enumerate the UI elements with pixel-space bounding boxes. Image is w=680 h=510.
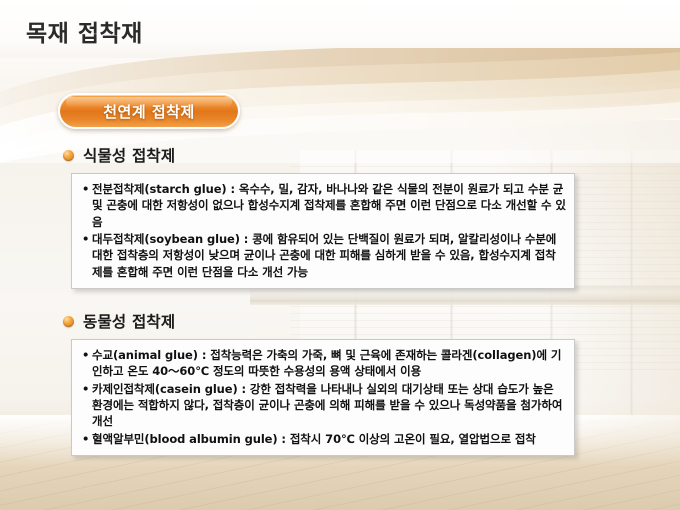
page-title: 목재 접착재 (26, 14, 143, 48)
list-item: • 카제인접착제(casein glue) : 강한 접착력을 나타내나 실외의… (82, 381, 566, 430)
list-item-text: 혈액알부민(blood albumin gule) : 접착시 70℃ 이상의 … (92, 431, 566, 447)
content-box-animal: • 수교(animal glue) : 접착능력은 가축의 가죽, 뼈 및 근육… (71, 339, 575, 456)
content-box-plant: • 전분접착제(starch glue) : 옥수수, 밀, 감자, 바나나와 … (71, 173, 575, 289)
section-pill-label: 천연계 접착제 (103, 101, 195, 122)
list-item: • 대두접착제(soybean glue) : 콩에 함유되어 있는 단백질이 … (82, 231, 566, 280)
section-pill-badge[interactable]: 천연계 접착제 (58, 93, 240, 129)
list-item-text: 카제인접착제(casein glue) : 강한 접착력을 나타내나 실외의 대… (92, 381, 566, 430)
bullet-marker: • (82, 231, 92, 247)
presentation-slide: 목재 접착재 천연계 접착제 식물성 접착제 • 전분접착제(starch gl… (0, 0, 680, 510)
orange-sphere-bullet-icon (63, 150, 74, 161)
section-plant-adhesives: 식물성 접착제 • 전분접착제(starch glue) : 옥수수, 밀, 감… (0, 144, 680, 289)
bullet-marker: • (82, 381, 92, 397)
list-item-text: 수교(animal glue) : 접착능력은 가축의 가죽, 뼈 및 근육에 … (92, 347, 566, 380)
section-title-plant: 식물성 접착제 (83, 144, 175, 166)
list-item: • 수교(animal glue) : 접착능력은 가축의 가죽, 뼈 및 근육… (82, 347, 566, 380)
list-item: • 혈액알부민(blood albumin gule) : 접착시 70℃ 이상… (82, 431, 566, 447)
orange-sphere-bullet-icon (63, 316, 74, 327)
list-item-text: 전분접착제(starch glue) : 옥수수, 밀, 감자, 바나나와 같은… (92, 181, 566, 230)
bullet-marker: • (82, 347, 92, 363)
section-animal-adhesives: 동물성 접착제 • 수교(animal glue) : 접착능력은 가축의 가죽… (0, 310, 680, 456)
list-item: • 전분접착제(starch glue) : 옥수수, 밀, 감자, 바나나와 … (82, 181, 566, 230)
list-item-text: 대두접착제(soybean glue) : 콩에 함유되어 있는 단백질이 원료… (92, 231, 566, 280)
bullet-marker: • (82, 431, 92, 447)
bullet-marker: • (82, 181, 92, 197)
section-title-animal: 동물성 접착제 (83, 310, 175, 332)
section-heading-animal: 동물성 접착제 (0, 310, 680, 332)
section-heading-plant: 식물성 접착제 (0, 144, 680, 166)
